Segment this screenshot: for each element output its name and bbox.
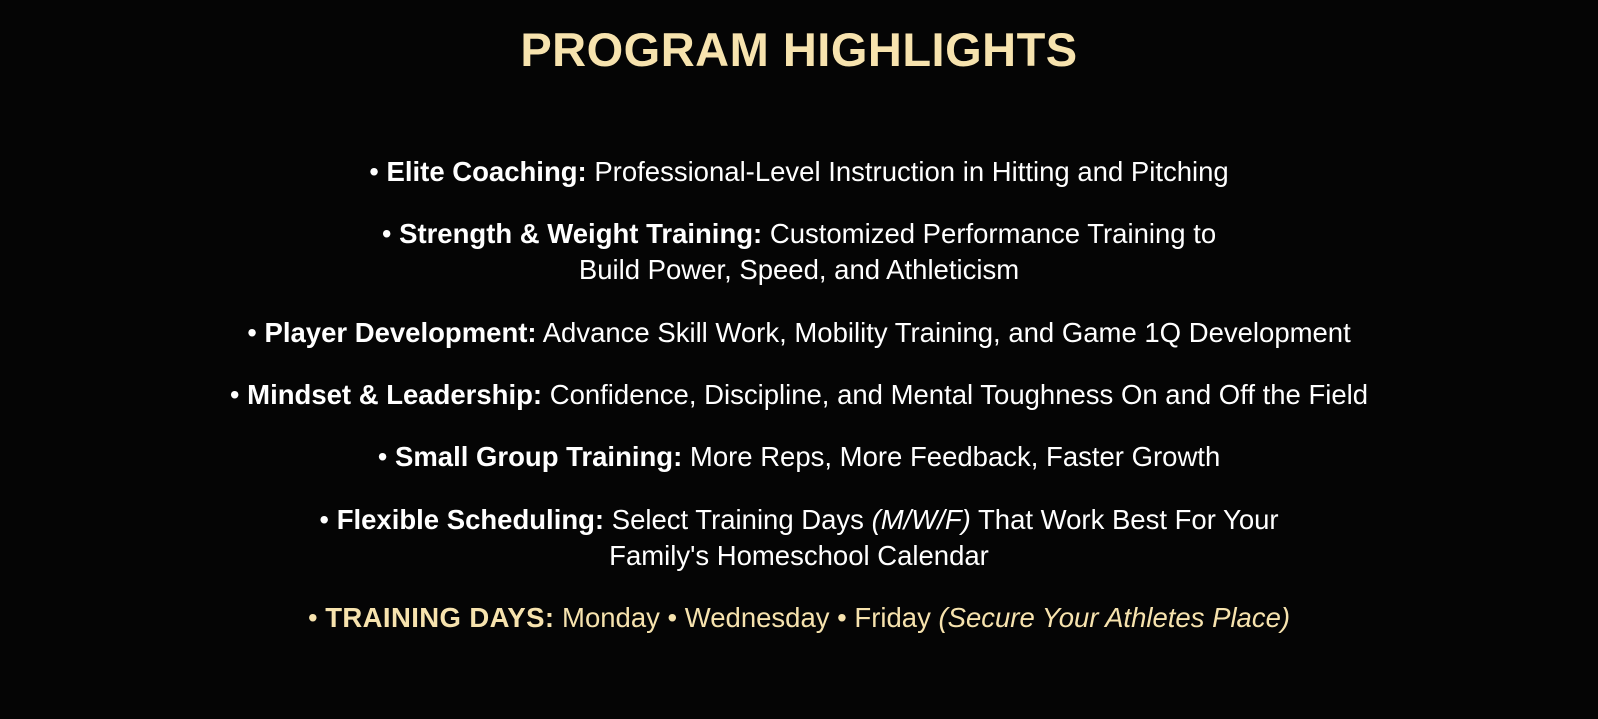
list-item: • Player Development: Advance Skill Work… [0, 315, 1598, 351]
list-item-text: Customized Performance Training to [770, 218, 1216, 249]
list-item-text: Confidence, Discipline, and Mental Tough… [550, 379, 1368, 410]
list-item-text: More Reps, More Feedback, Faster Growth [690, 441, 1220, 472]
list-item: • Elite Coaching: Professional-Level Ins… [0, 154, 1598, 190]
list-item-label: Strength & Weight Training: [399, 218, 762, 249]
list-item-text: Advance Skill Work, Mobility Training, a… [543, 317, 1351, 348]
page-title: PROGRAM HIGHLIGHTS [520, 22, 1077, 78]
program-highlights-slide: PROGRAM HIGHLIGHTS • Elite Coaching: Pro… [0, 0, 1598, 719]
list-item: • Strength & Weight Training: Customized… [0, 216, 1598, 289]
list-item-training-days: • TRAINING DAYS: Monday • Wednesday • Fr… [0, 600, 1598, 636]
list-item-text-tail: That Work Best For Your [978, 504, 1279, 535]
list-item: • Flexible Scheduling: Select Training D… [0, 502, 1598, 575]
bullet-dot-icon: • [369, 156, 379, 187]
list-item-text: Select Training Days [612, 504, 864, 535]
list-item-emphasis: (M/W/F) [872, 504, 971, 535]
list-item-text: Professional-Level Instruction in Hittin… [594, 156, 1228, 187]
list-item: • Small Group Training: More Reps, More … [0, 439, 1598, 475]
bullet-dot-icon: • [319, 504, 329, 535]
list-item-label: Small Group Training: [395, 441, 682, 472]
list-item-label: TRAINING DAYS: [325, 602, 554, 633]
bullet-dot-icon: • [378, 441, 388, 472]
list-item-text-line2: Family's Homeschool Calendar [20, 538, 1578, 574]
bullet-dot-icon: • [308, 602, 318, 633]
list-item-label: Elite Coaching: [387, 156, 587, 187]
highlights-list: • Elite Coaching: Professional-Level Ins… [0, 154, 1598, 637]
bullet-dot-icon: • [230, 379, 240, 410]
bullet-dot-icon: • [382, 218, 392, 249]
list-item-text: Monday • Wednesday • Friday [562, 602, 931, 633]
list-item-emphasis: (Secure Your Athletes Place) [938, 602, 1290, 633]
list-item: • Mindset & Leadership: Confidence, Disc… [0, 377, 1598, 413]
list-item-label: Mindset & Leadership: [247, 379, 542, 410]
bullet-dot-icon: • [247, 317, 257, 348]
list-item-label: Player Development: [265, 317, 537, 348]
list-item-label: Flexible Scheduling: [337, 504, 604, 535]
list-item-text-line2: Build Power, Speed, and Athleticism [20, 252, 1578, 288]
